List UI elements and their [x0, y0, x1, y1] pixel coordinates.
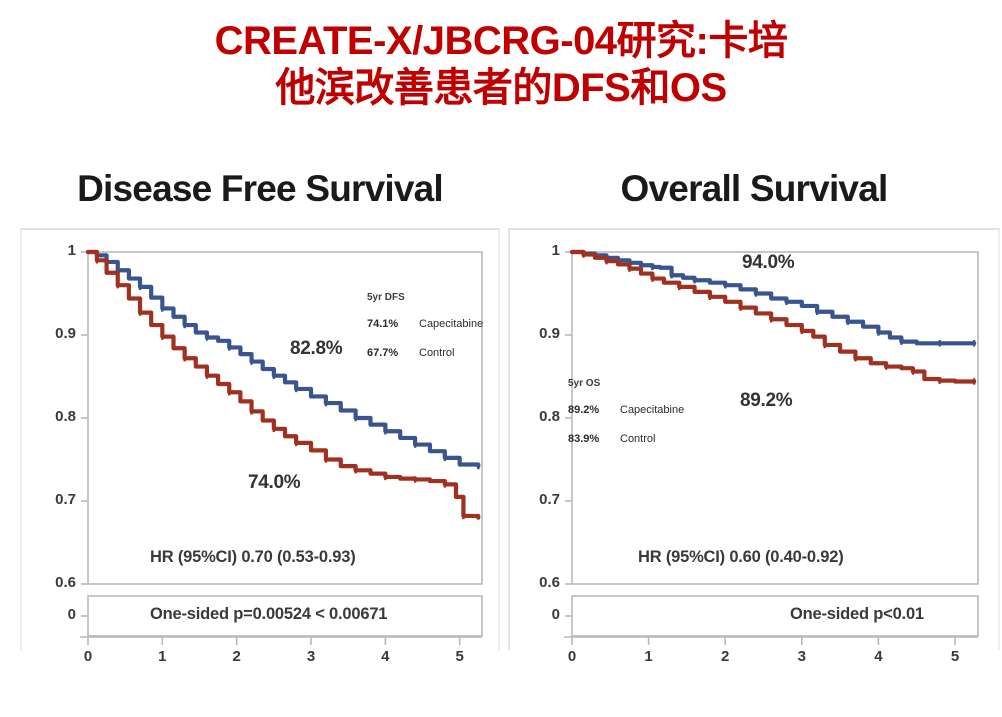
legend-value-control: 83.9% — [568, 433, 599, 445]
legend-value-control: 67.7% — [367, 347, 398, 359]
x-axis-tick-label: 3 — [782, 648, 822, 665]
panel-title-dfs: Disease Free Survival — [20, 160, 500, 218]
x-axis-tick-label: 5 — [935, 648, 975, 665]
x-axis-tick-label: 4 — [858, 648, 898, 665]
x-axis-tick-label: 2 — [705, 648, 745, 665]
page-title-line-1: CREATE-X/JBCRG-04研究:卡培 — [0, 18, 1002, 65]
chart-frame-dfs: 10.90.80.70.600123455yr DFS74.1%Capecita… — [20, 228, 500, 650]
legend-heading-dfs: 5yr DFS — [367, 292, 405, 303]
curve-label-control: 74.0% — [248, 472, 300, 494]
legend-label-control: Control — [620, 433, 655, 445]
legend-label-capecitabine: Capecitabine — [620, 404, 684, 416]
hazard-ratio-os: HR (95%CI) 0.60 (0.40-0.92) — [638, 548, 844, 567]
panel-overall-survival: Overall Survival 10.90.80.70.600123455yr… — [508, 160, 1000, 650]
x-axis-tick-label: 0 — [552, 648, 592, 665]
hazard-ratio-dfs: HR (95%CI) 0.70 (0.53-0.93) — [150, 548, 356, 567]
x-axis-tick-label: 4 — [365, 648, 405, 665]
chart-svg-dfs — [22, 230, 498, 648]
chart-frame-os: 10.90.80.70.600123455yr OS89.2%Capecitab… — [508, 228, 1000, 650]
curve-label-control: 89.2% — [740, 390, 792, 412]
curve-label-capecitabine: 82.8% — [290, 338, 342, 360]
legend-heading-os: 5yr OS — [568, 378, 600, 389]
panel-title-os: Overall Survival — [508, 160, 1000, 218]
legend-value-capecitabine: 74.1% — [367, 318, 398, 330]
legend-value-capecitabine: 89.2% — [568, 404, 599, 416]
x-axis-tick-label: 2 — [217, 648, 257, 665]
page-title: CREATE-X/JBCRG-04研究:卡培 他滨改善患者的DFS和OS — [0, 18, 1002, 112]
p-value-os: One-sided p<0.01 — [790, 605, 924, 624]
x-axis-tick-label: 3 — [291, 648, 331, 665]
panel-disease-free-survival: Disease Free Survival 10.90.80.70.600123… — [20, 160, 500, 650]
chart-plot-dfs: 10.90.80.70.600123455yr DFS74.1%Capecita… — [22, 230, 498, 650]
p-value-dfs: One-sided p=0.00524 < 0.00671 — [150, 605, 387, 624]
page-title-line-2: 他滨改善患者的DFS和OS — [0, 65, 1002, 112]
x-axis-tick-label: 0 — [68, 648, 108, 665]
chart-plot-os: 10.90.80.70.600123455yr OS89.2%Capecitab… — [510, 230, 998, 650]
legend-label-control: Control — [419, 347, 454, 359]
x-axis-tick-label: 1 — [629, 648, 669, 665]
legend-label-capecitabine: Capecitabine — [419, 318, 483, 330]
x-axis-tick-label: 1 — [142, 648, 182, 665]
x-axis-tick-label: 5 — [440, 648, 480, 665]
curve-label-capecitabine: 94.0% — [742, 252, 794, 274]
